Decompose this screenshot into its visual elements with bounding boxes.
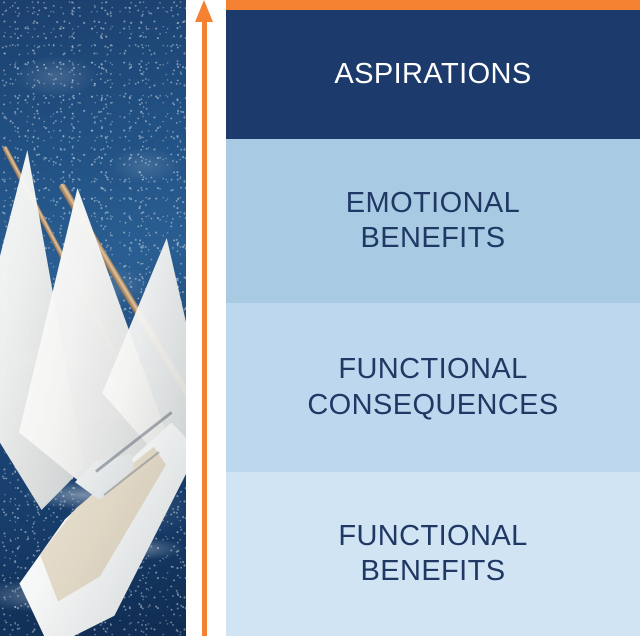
ladder-level-emotional-benefits[interactable]: EMOTIONAL BENEFITS	[226, 139, 640, 303]
ladder-level-functional-benefits[interactable]: FUNCTIONAL BENEFITS	[226, 472, 640, 636]
ladder-level-label: FUNCTIONAL BENEFITS	[338, 519, 527, 589]
ladder-level-label: EMOTIONAL BENEFITS	[346, 186, 520, 256]
ladder-level-aspirations[interactable]: ASPIRATIONS	[226, 10, 640, 139]
ladder-level-label: FUNCTIONAL CONSEQUENCES	[307, 352, 558, 422]
ladder-level-label: ASPIRATIONS	[334, 57, 531, 92]
ladder-level-functional-consequences[interactable]: FUNCTIONAL CONSEQUENCES	[226, 303, 640, 472]
top-accent-bar	[226, 0, 640, 10]
value-ladder: ASPIRATIONS EMOTIONAL BENEFITS FUNCTIONA…	[226, 0, 640, 636]
up-arrow-head	[195, 0, 213, 22]
up-arrow-icon	[195, 0, 213, 636]
sailboat-aerial-photo	[0, 0, 186, 636]
up-arrow-shaft	[202, 20, 207, 636]
value-ladder-slide: ASPIRATIONS EMOTIONAL BENEFITS FUNCTIONA…	[0, 0, 640, 636]
